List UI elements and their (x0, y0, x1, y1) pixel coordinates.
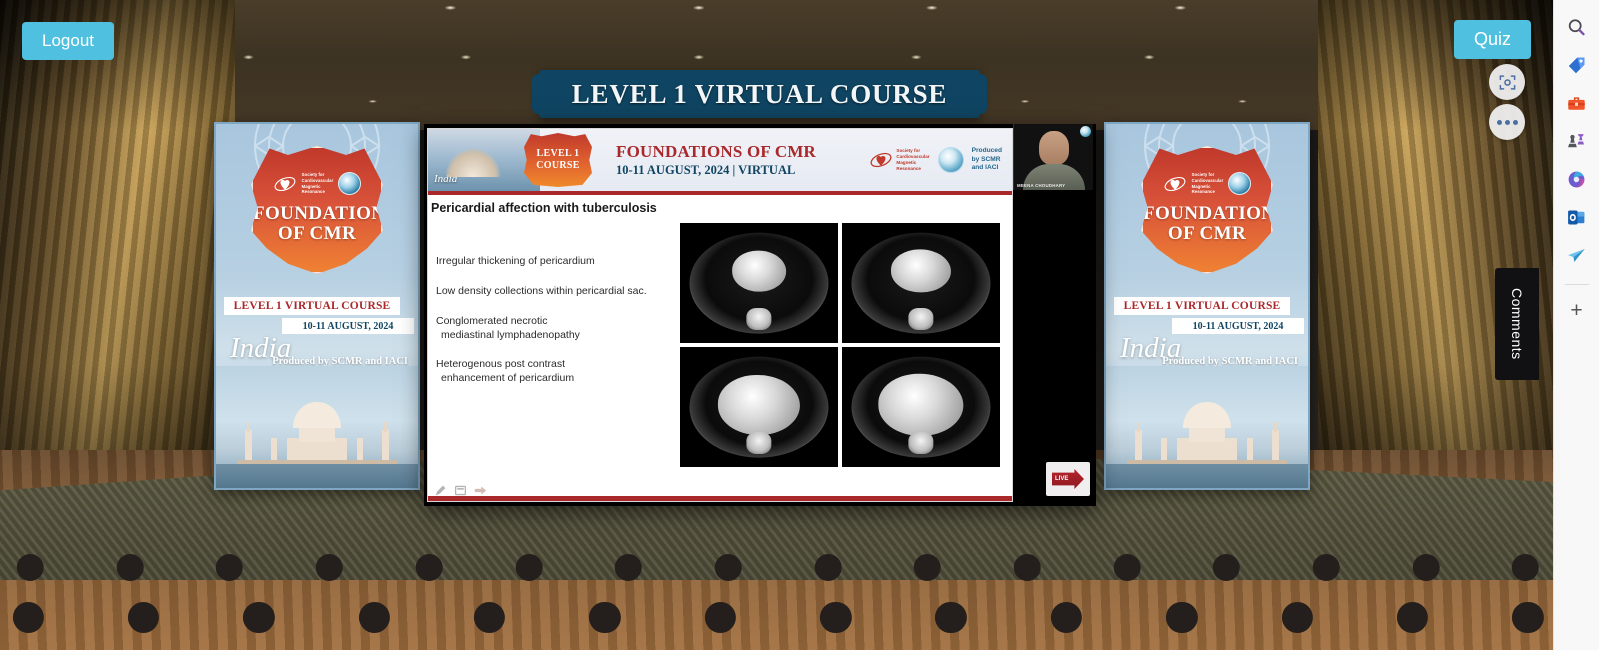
poster-date-text: 10-11 AUGUST, 2024 (1193, 321, 1284, 332)
comments-tab-label: Comments (1509, 288, 1525, 360)
ct-axial-1 (680, 223, 838, 343)
scmr-line-2: Cardiovascular (302, 178, 334, 184)
poster-title-line-2: OF CMR (253, 224, 381, 244)
poster-right: Society for Cardiovascular Magnetic Reso… (1104, 122, 1310, 490)
poster-emblem-title: FOUNDATIONS OF CMR (253, 204, 381, 244)
badge-line-2: COURSE (536, 160, 579, 173)
scmr-org-text: Society for Cardiovascular Magnetic Reso… (896, 148, 929, 173)
poster-date-text: 10-11 AUGUST, 2024 (303, 321, 394, 332)
slide-body: Pericardial affection with tuberculosis … (428, 195, 1012, 501)
spine (746, 432, 771, 454)
shopping-tag-icon (1566, 55, 1587, 76)
presenter-webcam[interactable]: MEENA CHOUDHARY (1013, 124, 1093, 190)
presenter-face (1039, 131, 1069, 165)
sidebar-item-shopping[interactable] (1560, 48, 1594, 82)
spine (908, 308, 933, 330)
scan-qr-button[interactable] (1489, 64, 1525, 100)
scmr-line-4: Resonance (896, 166, 929, 172)
scmr-heart-icon (273, 173, 297, 195)
poster-level-text: LEVEL 1 VIRTUAL COURSE (234, 300, 391, 312)
spine (908, 432, 933, 454)
poster-title-line-1: FOUNDATIONS (1143, 204, 1271, 224)
iaci-logo-icon (338, 172, 361, 195)
badge-line-1: LEVEL 1 (537, 148, 580, 161)
poster-level-band: LEVEL 1 VIRTUAL COURSE (224, 297, 400, 315)
scan-qr-icon (1498, 73, 1517, 92)
bullet-text-cont: mediastinal lymphadenopathy (436, 329, 680, 343)
scmr-org-text: Society for Cardiovascular Magnetic Reso… (1192, 172, 1224, 195)
produced-by-text: Produced by SCMR and IACI (972, 147, 1002, 174)
emblem-logo-row: Society for Cardiovascular Magnetic Reso… (253, 172, 381, 195)
iaci-logo-icon (1228, 172, 1251, 195)
outlook-icon (1566, 207, 1587, 228)
sidebar-item-tools[interactable] (1560, 86, 1594, 120)
sidebar-item-games[interactable] (1560, 124, 1594, 158)
spine (746, 308, 771, 330)
taj-water (1106, 464, 1308, 488)
ct-image-grid (680, 223, 1000, 467)
sidebar-item-outlook[interactable] (1560, 200, 1594, 234)
poster-emblem: Society for Cardiovascular Magnetic Reso… (251, 146, 383, 274)
more-options-icon (1497, 120, 1518, 125)
ct-axial-4 (842, 347, 1000, 467)
poster-emblem: Society for Cardiovascular Magnetic Reso… (1141, 146, 1273, 274)
browser-sidebar: + (1553, 0, 1599, 650)
bullet-text: Heterogenous post contrast (436, 358, 565, 370)
iaci-logo-icon (938, 147, 964, 173)
slide-header-level-badge: LEVEL 1 COURSE (524, 133, 592, 187)
poster-date-band: 10-11 AUGUST, 2024 (1172, 318, 1304, 334)
sidebar-divider (1565, 284, 1589, 285)
slide-title: Pericardial affection with tuberculosis (431, 201, 657, 215)
tools-briefcase-icon (1566, 93, 1587, 114)
ct-axial-2 (842, 223, 1000, 343)
scmr-line-2: Cardiovascular (1192, 178, 1224, 184)
scmr-line-4: Resonance (1192, 189, 1224, 195)
comments-tab[interactable]: Comments (1495, 268, 1539, 380)
slide-bullet: Conglomerated necrotic mediastinal lymph… (436, 315, 680, 343)
produced-line-1: Produced (972, 147, 1002, 156)
ct-axial-3 (680, 347, 838, 467)
live-badge: LIVE (1046, 462, 1090, 496)
telegram-plane-icon (1566, 245, 1587, 266)
produced-line-3: and IACI (972, 164, 1002, 173)
slide-bottom-rule (428, 496, 1012, 501)
scmr-heart-icon (1163, 173, 1187, 195)
taj-mahal-silhouette (1127, 386, 1287, 466)
bullet-text: Conglomerated necrotic (436, 315, 547, 327)
scmr-logo-block: Society for Cardiovascular Magnetic Reso… (869, 148, 929, 173)
slide-bullet: Low density collections within pericardi… (436, 285, 680, 299)
slide-header-subtitle: 10-11 AUGUST, 2024 | VIRTUAL (616, 163, 869, 178)
poster-date-band: 10-11 AUGUST, 2024 (282, 318, 414, 334)
poster-level-text: LEVEL 1 VIRTUAL COURSE (1124, 300, 1281, 312)
left-gold-wall (0, 0, 235, 520)
slide-header: India LEVEL 1 COURSE FOUNDATIONS OF CMR … (428, 129, 1012, 191)
plus-icon: + (1570, 300, 1582, 321)
more-options-button[interactable] (1489, 104, 1525, 140)
heart-region (891, 249, 951, 292)
live-arrow-icon: LIVE (1052, 469, 1084, 489)
produced-line-2: by SCMR (972, 156, 1002, 165)
presentation-screen[interactable]: MEENA CHOUDHARY LIVE India LEVEL 1 COURS… (424, 124, 1096, 506)
poster-emblem-title: FOUNDATIONS OF CMR (1143, 204, 1271, 244)
logout-button[interactable]: Logout (22, 22, 114, 60)
slide-bullet-list: Irregular thickening of pericardium Low … (436, 255, 680, 402)
heart-region (732, 251, 786, 292)
taj-mahal-photo (216, 366, 418, 488)
bullet-text: Irregular thickening of pericardium (436, 255, 595, 267)
slide-bullet: Irregular thickening of pericardium (436, 255, 680, 269)
quiz-button[interactable]: Quiz (1454, 20, 1531, 59)
scmr-heart-icon (869, 149, 893, 171)
event-title-banner: LEVEL 1 VIRTUAL COURSE (539, 70, 980, 118)
page-title: LEVEL 1 VIRTUAL COURSE (572, 79, 948, 110)
slide-header-logos: Society for Cardiovascular Magnetic Reso… (869, 147, 1012, 174)
poster-title-line-2: OF CMR (1143, 224, 1271, 244)
slide-content: India LEVEL 1 COURSE FOUNDATIONS OF CMR … (427, 128, 1013, 502)
sidebar-item-send[interactable] (1560, 238, 1594, 272)
emblem-logo-row: Society for Cardiovascular Magnetic Reso… (1143, 172, 1271, 195)
games-chess-icon (1566, 131, 1587, 152)
taj-mahal-photo (1106, 366, 1308, 488)
heart-region (878, 373, 963, 435)
poster-title-line-1: FOUNDATIONS (253, 204, 381, 224)
poster-level-band: LEVEL 1 VIRTUAL COURSE (1114, 297, 1290, 315)
bullet-text-cont: enhancement of pericardium (436, 372, 680, 386)
slide-header-title: FOUNDATIONS OF CMR (616, 142, 869, 162)
presenter-name: MEENA CHOUDHARY (1017, 183, 1065, 188)
sidebar-item-copilot[interactable] (1560, 162, 1594, 196)
poster-left: Society for Cardiovascular Magnetic Reso… (214, 122, 420, 490)
live-label: LIVE (1052, 476, 1068, 482)
copilot-icon (1566, 169, 1587, 190)
bullet-text: Low density collections within pericardi… (436, 285, 647, 297)
slide-bullet: Heterogenous post contrast enhancement o… (436, 358, 680, 386)
heart-region (718, 375, 800, 435)
iaci-logo-icon (1080, 126, 1091, 137)
virtual-event-page: LEVEL 1 VIRTUAL COURSE S (0, 0, 1599, 650)
slide-header-india: India (434, 173, 457, 185)
sidebar-item-search[interactable] (1560, 10, 1594, 44)
scmr-line-4: Resonance (302, 189, 334, 195)
search-icon (1566, 17, 1587, 38)
scmr-org-text: Society for Cardiovascular Magnetic Reso… (302, 172, 334, 195)
slide-header-taj-image: India (428, 129, 540, 191)
taj-water (216, 464, 418, 488)
taj-mahal-silhouette (237, 386, 397, 466)
sidebar-add-button[interactable]: + (1560, 293, 1594, 327)
audience-row-front (0, 594, 1553, 650)
